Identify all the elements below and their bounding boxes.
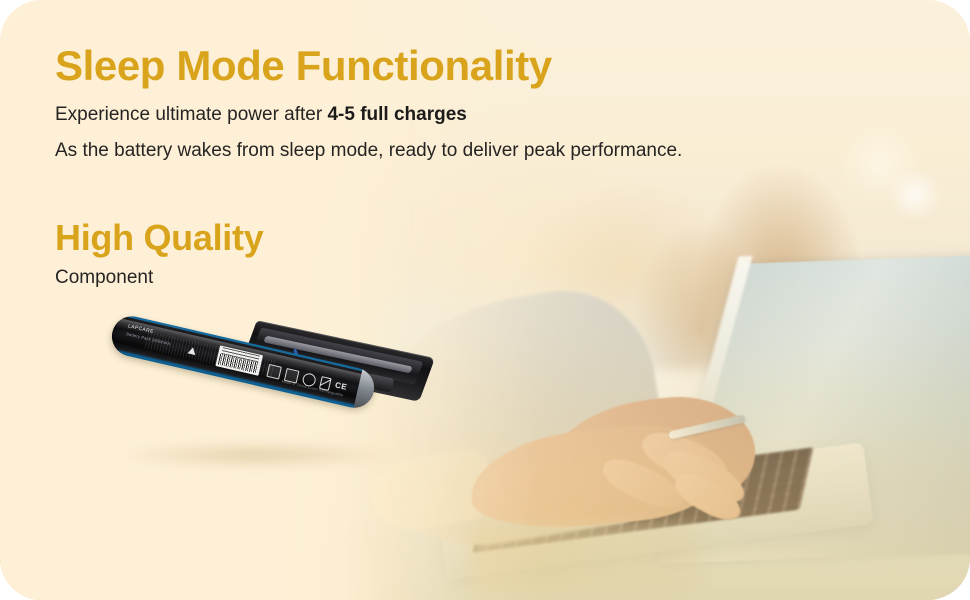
battery-shadow — [115, 442, 395, 468]
sleep-mode-subline: As the battery wakes from sleep mode, re… — [55, 137, 855, 166]
promo-banner: Sleep Mode Functionality Experience ulti… — [0, 0, 970, 600]
lead-prefix: Experience ultimate power after — [55, 104, 327, 125]
copy-block: Sleep Mode Functionality Experience ulti… — [55, 42, 855, 289]
lead-paragraph: Experience ultimate power after 4-5 full… — [55, 101, 855, 130]
rohs-icon — [266, 363, 282, 379]
headline-sleep-mode: Sleep Mode Functionality — [55, 42, 855, 89]
headline-high-quality: High Quality — [55, 217, 855, 259]
battery-product-image: LAPCARE Battery Pack 2600mAh CE Made in … — [95, 320, 425, 490]
lead-bold-charges: 4-5 full charges — [327, 104, 466, 125]
warning-triangle-icon — [188, 346, 197, 355]
high-quality-subline: Component — [55, 267, 855, 289]
